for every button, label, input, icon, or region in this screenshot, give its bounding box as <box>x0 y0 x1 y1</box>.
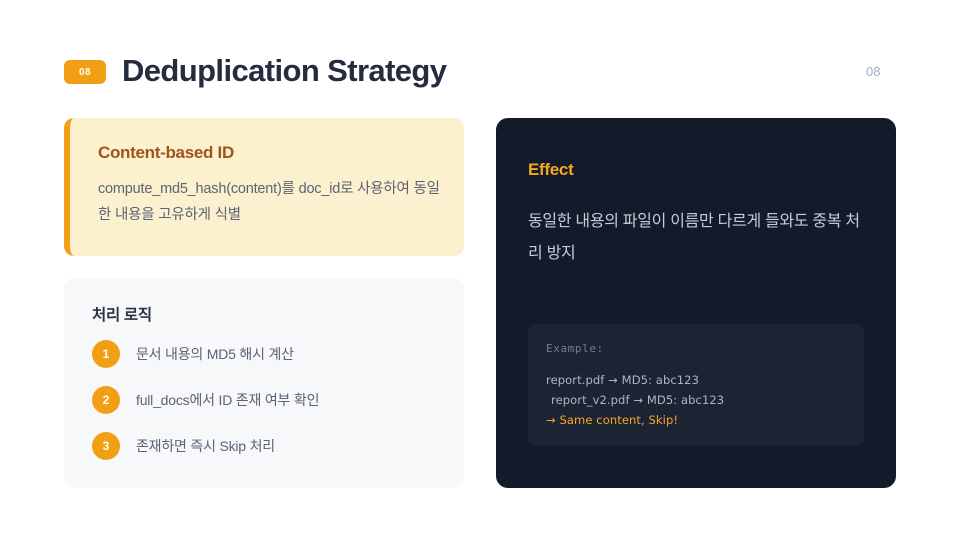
processing-logic-title: 처리 로직 <box>92 303 152 325</box>
effect-title: Effect <box>528 160 573 180</box>
list-item: 1 문서 내용의 MD5 해시 계산 <box>92 340 442 368</box>
step-label: full_docs에서 ID 존재 여부 확인 <box>136 390 319 410</box>
effect-body: 동일한 내용의 파일이 이름만 다르게 들와도 중복 처리 방지 <box>528 206 864 270</box>
step-number-badge: 1 <box>92 340 120 368</box>
example-line: report.pdf → MD5: abc123 <box>546 370 846 390</box>
example-lines: report.pdf → MD5: abc123 report_v2.pdf →… <box>546 370 846 430</box>
slide-header: 08 Deduplication Strategy 08 <box>0 0 960 110</box>
example-label: Example: <box>546 342 604 355</box>
example-result-line: → Same content, Skip! <box>546 410 846 430</box>
list-item: 2 full_docs에서 ID 존재 여부 확인 <box>92 386 442 414</box>
example-code-box: Example: report.pdf → MD5: abc123 report… <box>528 324 864 446</box>
slide-number-badge: 08 <box>64 60 106 84</box>
list-item: 3 존재하면 즉시 Skip 처리 <box>92 432 442 460</box>
content-based-id-card: Content-based ID compute_md5_hash(conten… <box>64 118 464 256</box>
content-based-id-title: Content-based ID <box>98 143 234 163</box>
processing-logic-steps: 1 문서 내용의 MD5 해시 계산 2 full_docs에서 ID 존재 여… <box>92 340 442 478</box>
effect-card: Effect 동일한 내용의 파일이 이름만 다르게 들와도 중복 처리 방지 … <box>496 118 896 488</box>
page-title: Deduplication Strategy <box>122 53 446 89</box>
step-number-badge: 2 <box>92 386 120 414</box>
content-based-id-body: compute_md5_hash(content)를 doc_id로 사용하여 … <box>98 176 448 228</box>
step-label: 문서 내용의 MD5 해시 계산 <box>136 344 294 364</box>
example-line: report_v2.pdf → MD5: abc123 <box>546 390 846 410</box>
step-number-badge: 3 <box>92 432 120 460</box>
step-label: 존재하면 즉시 Skip 처리 <box>136 436 275 456</box>
processing-logic-card: 처리 로직 1 문서 내용의 MD5 해시 계산 2 full_docs에서 I… <box>64 278 464 488</box>
page-number: 08 <box>866 64 906 79</box>
